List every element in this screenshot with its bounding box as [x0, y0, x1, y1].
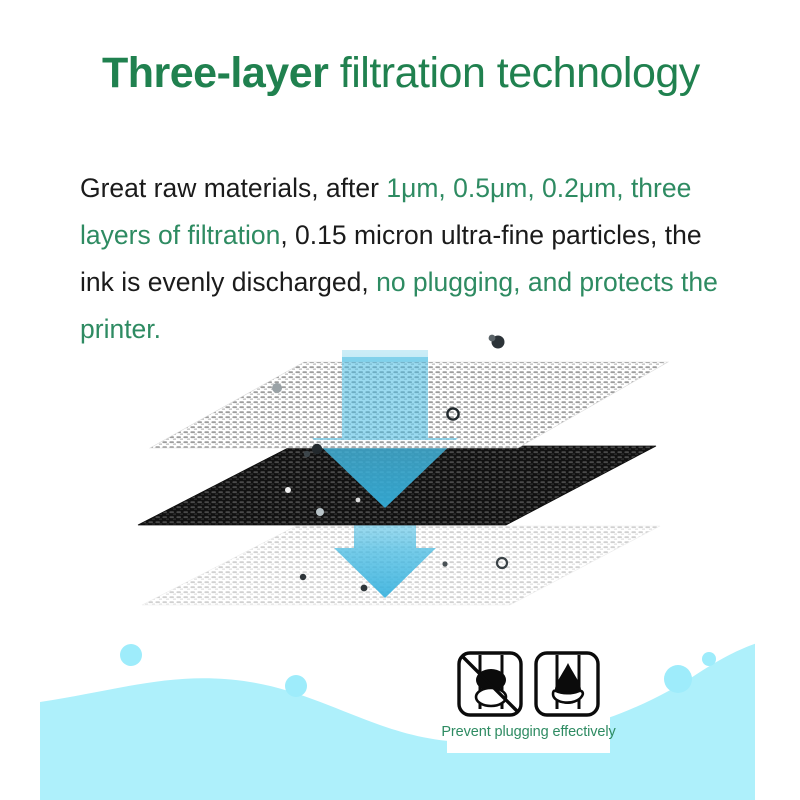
paragraph-segment-0: Great raw materials, after	[80, 173, 386, 203]
ink-droplet-flow-icon	[532, 649, 602, 719]
badge-caption: Prevent plugging effectively	[441, 724, 615, 740]
page-title-light: filtration technology	[328, 49, 699, 97]
prevent-plugging-badge: Prevent plugging effectively	[447, 643, 610, 753]
particle-on-dark-2	[356, 498, 361, 503]
particle-on-dark-3	[316, 508, 324, 516]
particle-on-top-3	[304, 451, 310, 457]
page-title-strong: Three-layer	[102, 49, 328, 97]
particle-on-bottom-2	[361, 585, 368, 592]
bubble-1	[120, 644, 142, 666]
particle-on-dark-1	[285, 487, 291, 493]
bubble-4	[702, 652, 716, 666]
wave-shape	[40, 642, 760, 800]
promo-page: Three-layer filtration technology Great …	[0, 0, 800, 800]
description-paragraph: Great raw materials, after 1μm, 0.5μm, 0…	[80, 165, 740, 353]
badge-icon-row	[455, 649, 602, 719]
particle-on-bottom-4	[442, 561, 447, 566]
page-title: Three-layer filtration technology	[102, 47, 742, 99]
three-layer-filter-diagram	[120, 330, 680, 610]
bubble-3	[664, 665, 692, 693]
particle-on-top-2	[312, 444, 322, 454]
bubble-2	[285, 675, 307, 697]
particle-on-bottom-1	[300, 574, 306, 580]
nozzle-clogged-icon	[455, 649, 525, 719]
particle-on-top-1	[272, 383, 282, 393]
